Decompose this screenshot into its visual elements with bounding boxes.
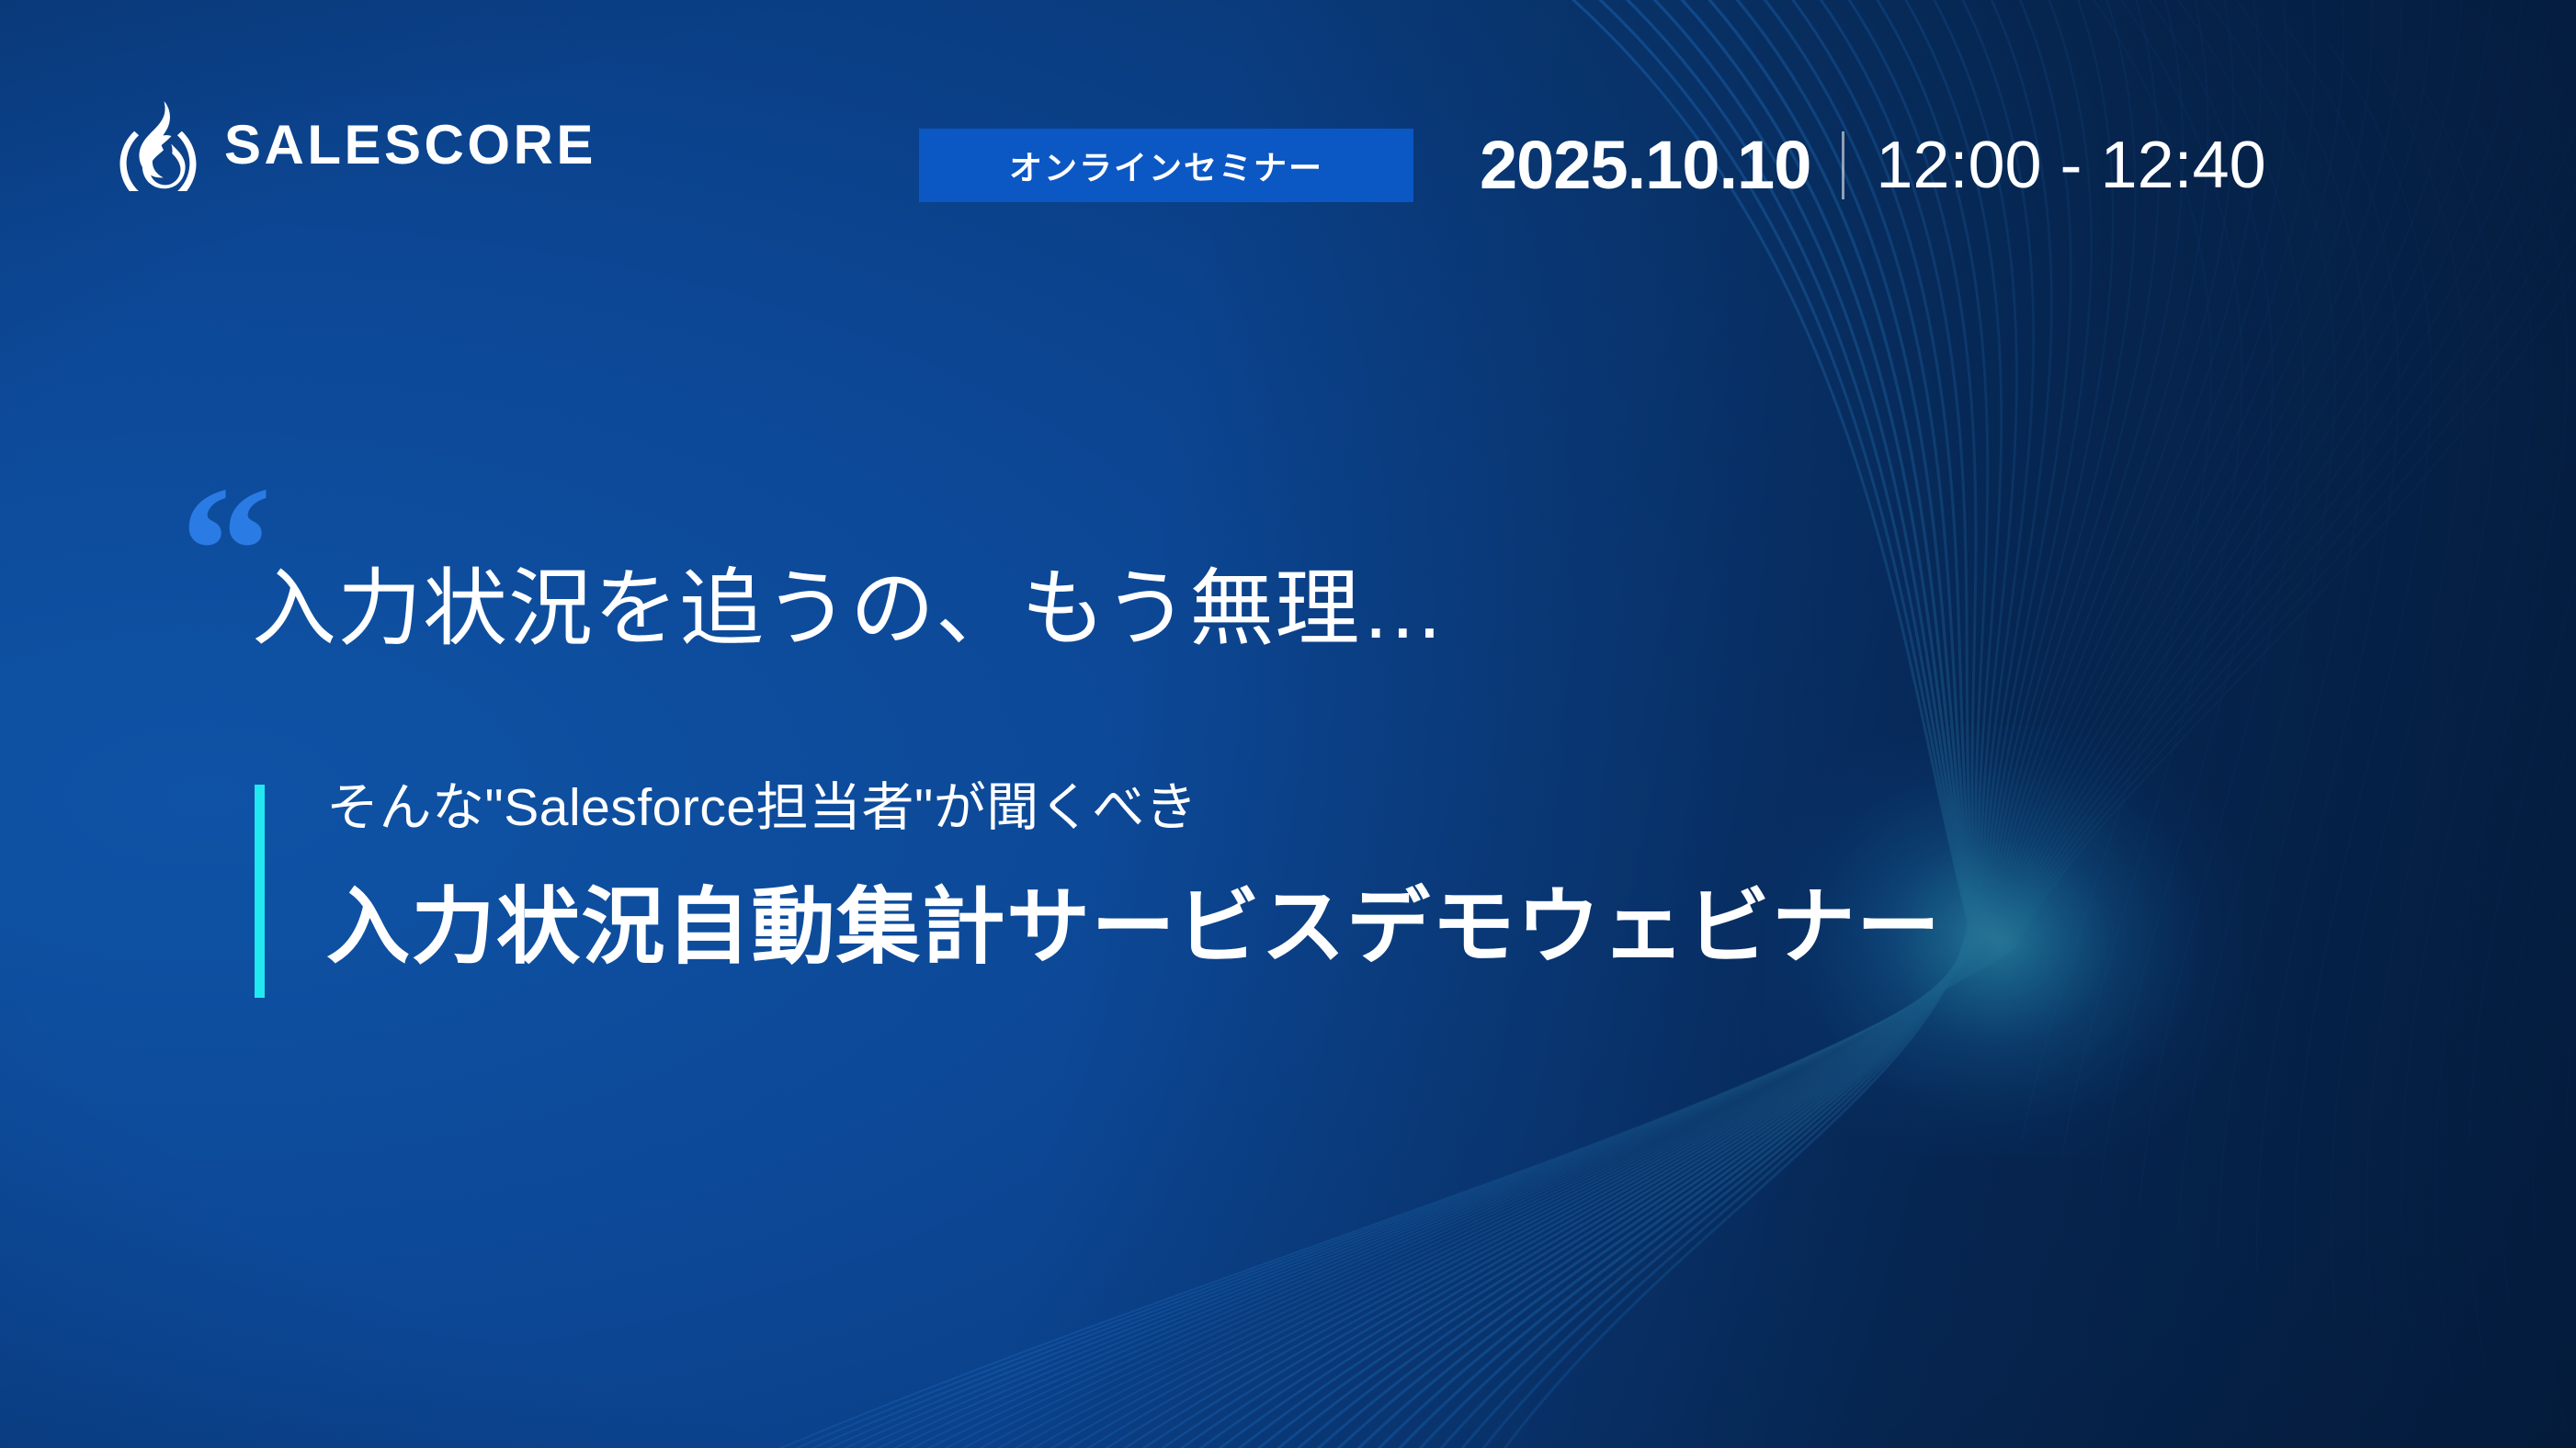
brand-name: SALESCORE	[224, 118, 596, 173]
page-title: 入力状況自動集計サービスデモウェビナー	[326, 877, 1942, 978]
seminar-type-badge-label: オンラインセミナー	[1009, 141, 1323, 189]
headline: 入力状況を追うの、もう無理…	[252, 562, 1446, 657]
brand-logo: SALESCORE	[116, 99, 596, 191]
flame-s-mark-icon	[116, 99, 200, 191]
background-right-shading	[0, 0, 2576, 1448]
webinar-banner: SALESCORE オンラインセミナー 2025.10.10 12:00 - 1…	[0, 0, 2576, 1448]
banner-header: SALESCORE オンラインセミナー 2025.10.10 12:00 - 1…	[0, 0, 2576, 211]
event-date: 2025.10.10	[1480, 131, 1810, 199]
seminar-type-badge: オンラインセミナー	[919, 129, 1413, 202]
subtitle: そんな"Salesforce担当者"が聞くべき	[326, 776, 1197, 839]
cyan-accent-bar	[255, 785, 265, 998]
event-datetime: 2025.10.10 12:00 - 12:40	[1480, 123, 2266, 208]
datetime-divider-icon	[1842, 131, 1844, 199]
event-time-range: 12:00 - 12:40	[1876, 132, 2265, 198]
